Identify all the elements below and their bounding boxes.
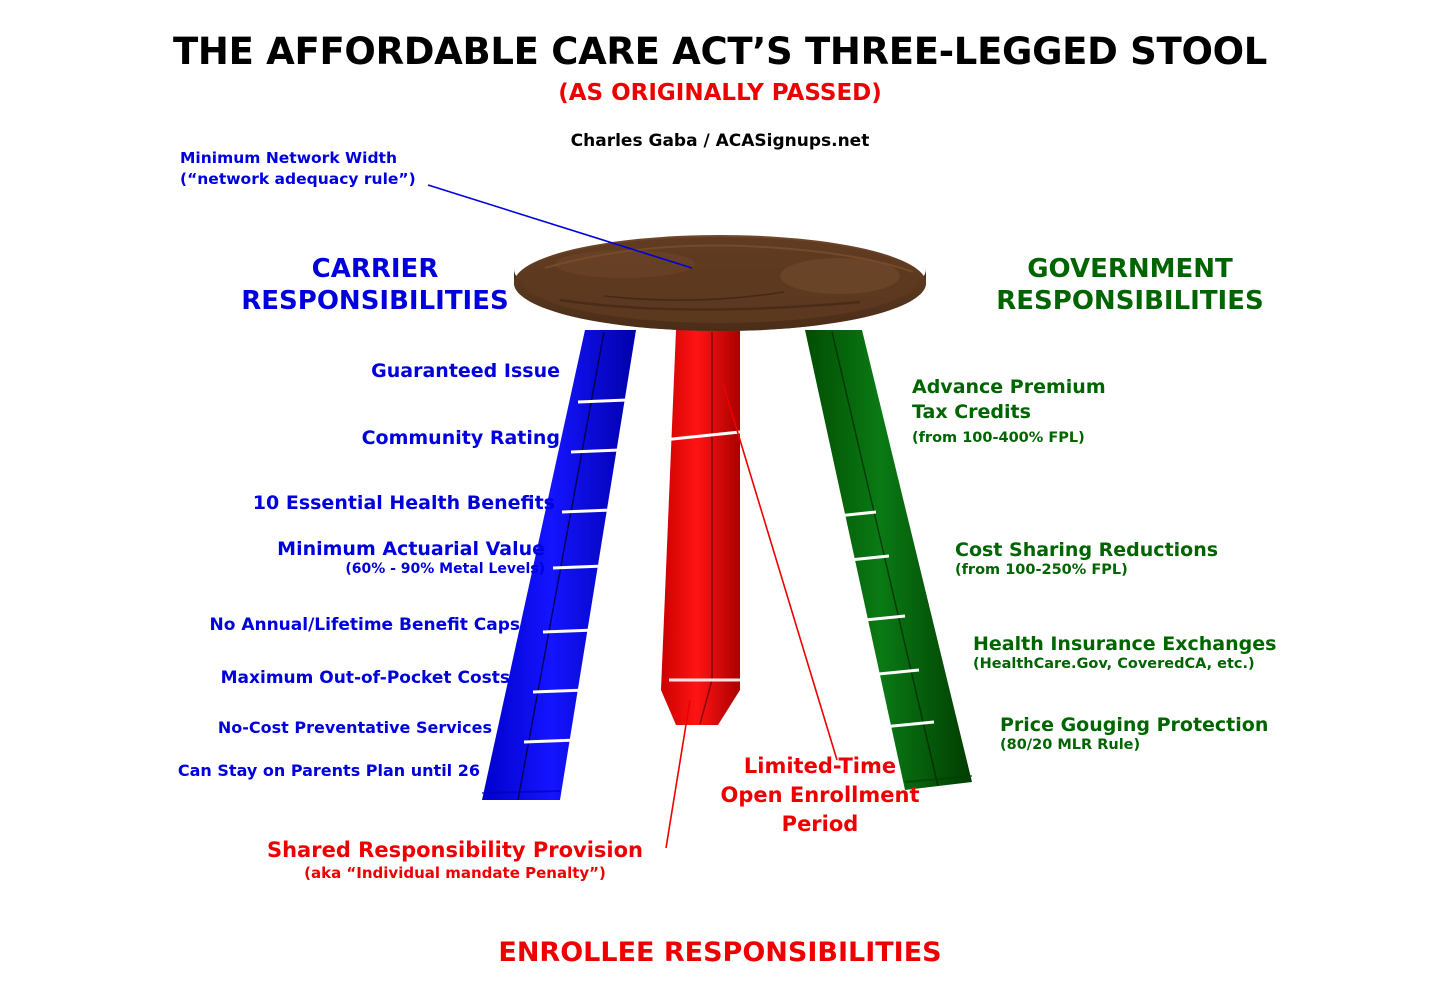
enrollee-responsibilities-header: ENROLLEE RESPONSIBILITIES bbox=[0, 937, 1440, 968]
page-title: THE AFFORDABLE CARE ACT’S THREE-LEGGED S… bbox=[0, 30, 1440, 73]
government-item-sublabel: (HealthCare.Gov, CoveredCA, etc.) bbox=[973, 656, 1393, 672]
government-item-price-gouging-protection: Price Gouging Protection (80/20 MLR Rule… bbox=[1000, 714, 1420, 753]
carrier-item-community-rating: Community Rating bbox=[120, 427, 560, 449]
callout-network-adequacy: Minimum Network Width (“network adequacy… bbox=[180, 148, 480, 190]
carrier-responsibilities-header: CARRIER RESPONSIBILITIES bbox=[210, 253, 540, 317]
carrier-item-no-benefit-caps: No Annual/Lifetime Benefit Caps bbox=[80, 615, 520, 635]
government-item-sublabel: (from 100-400% FPL) bbox=[912, 426, 1332, 451]
page-subtitle: (AS ORIGINALLY PASSED) bbox=[0, 80, 1440, 106]
carrier-item-sublabel: (60% - 90% Metal Levels) bbox=[80, 561, 545, 577]
government-item-sublabel: (from 100-250% FPL) bbox=[955, 562, 1375, 578]
carrier-item-essential-health-benefits: 10 Essential Health Benefits bbox=[80, 492, 555, 514]
stool-seat-shape bbox=[514, 235, 926, 331]
enrollee-leg-shape bbox=[661, 330, 740, 725]
carrier-item-label: No-Cost Preventative Services bbox=[218, 718, 492, 737]
carrier-item-parents-plan-26: Can Stay on Parents Plan until 26 bbox=[60, 761, 480, 780]
carrier-item-label: No Annual/Lifetime Benefit Caps bbox=[210, 615, 521, 635]
carrier-header-line-2: RESPONSIBILITIES bbox=[210, 285, 540, 317]
government-item-label: Advance Premium bbox=[912, 375, 1332, 400]
carrier-item-label: Guaranteed Issue bbox=[371, 360, 560, 382]
carrier-item-guaranteed-issue: Guaranteed Issue bbox=[140, 360, 560, 382]
government-item-label: Cost Sharing Reductions bbox=[955, 539, 1375, 561]
carrier-item-label: Can Stay on Parents Plan until 26 bbox=[178, 761, 480, 780]
carrier-item-minimum-actuarial-value: Minimum Actuarial Value (60% - 90% Metal… bbox=[80, 538, 545, 577]
callout-line-1: Minimum Network Width bbox=[180, 148, 480, 169]
enrollee-item-shared-responsibility-provision: Shared Responsibility Provision (aka “In… bbox=[230, 838, 680, 882]
leader-line-shared-responsibility bbox=[666, 700, 690, 848]
diagram-canvas: THE AFFORDABLE CARE ACT’S THREE-LEGGED S… bbox=[0, 0, 1440, 1000]
carrier-item-preventative-services: No-Cost Preventative Services bbox=[80, 718, 492, 737]
government-header-line-1: GOVERNMENT bbox=[930, 253, 1330, 285]
government-item-label: Price Gouging Protection bbox=[1000, 714, 1420, 736]
enrollee-item-line-1: Shared Responsibility Provision bbox=[230, 838, 680, 862]
government-item-health-insurance-exchanges: Health Insurance Exchanges (HealthCare.G… bbox=[973, 633, 1393, 672]
carrier-item-label: Community Rating bbox=[362, 427, 560, 449]
carrier-header-line-1: CARRIER bbox=[210, 253, 540, 285]
carrier-item-label: 10 Essential Health Benefits bbox=[253, 492, 555, 514]
callout-line-2: (“network adequacy rule”) bbox=[180, 169, 480, 190]
leader-line-open-enrollment bbox=[723, 384, 837, 760]
government-item-advance-premium-tax-credits: Advance Premium Tax Credits (from 100-40… bbox=[912, 375, 1332, 451]
enrollee-item-line-3: Period bbox=[700, 810, 940, 839]
carrier-item-label: Minimum Actuarial Value bbox=[277, 538, 545, 560]
government-item-sublabel: (80/20 MLR Rule) bbox=[1000, 737, 1420, 753]
government-item-label-2: Tax Credits bbox=[912, 400, 1332, 425]
government-item-cost-sharing-reductions: Cost Sharing Reductions (from 100-250% F… bbox=[955, 539, 1375, 578]
government-header-line-2: RESPONSIBILITIES bbox=[930, 285, 1330, 317]
government-item-label: Health Insurance Exchanges bbox=[973, 633, 1393, 655]
carrier-item-max-out-of-pocket: Maximum Out-of-Pocket Costs bbox=[80, 668, 510, 688]
enrollee-item-open-enrollment-period: Limited-Time Open Enrollment Period bbox=[700, 752, 940, 839]
enrollee-item-sublabel: (aka “Individual mandate Penalty”) bbox=[230, 864, 680, 882]
enrollee-item-line-1: Limited-Time bbox=[700, 752, 940, 781]
carrier-item-label: Maximum Out-of-Pocket Costs bbox=[221, 668, 510, 688]
enrollee-item-line-2: Open Enrollment bbox=[700, 781, 940, 810]
government-responsibilities-header: GOVERNMENT RESPONSIBILITIES bbox=[930, 253, 1330, 317]
